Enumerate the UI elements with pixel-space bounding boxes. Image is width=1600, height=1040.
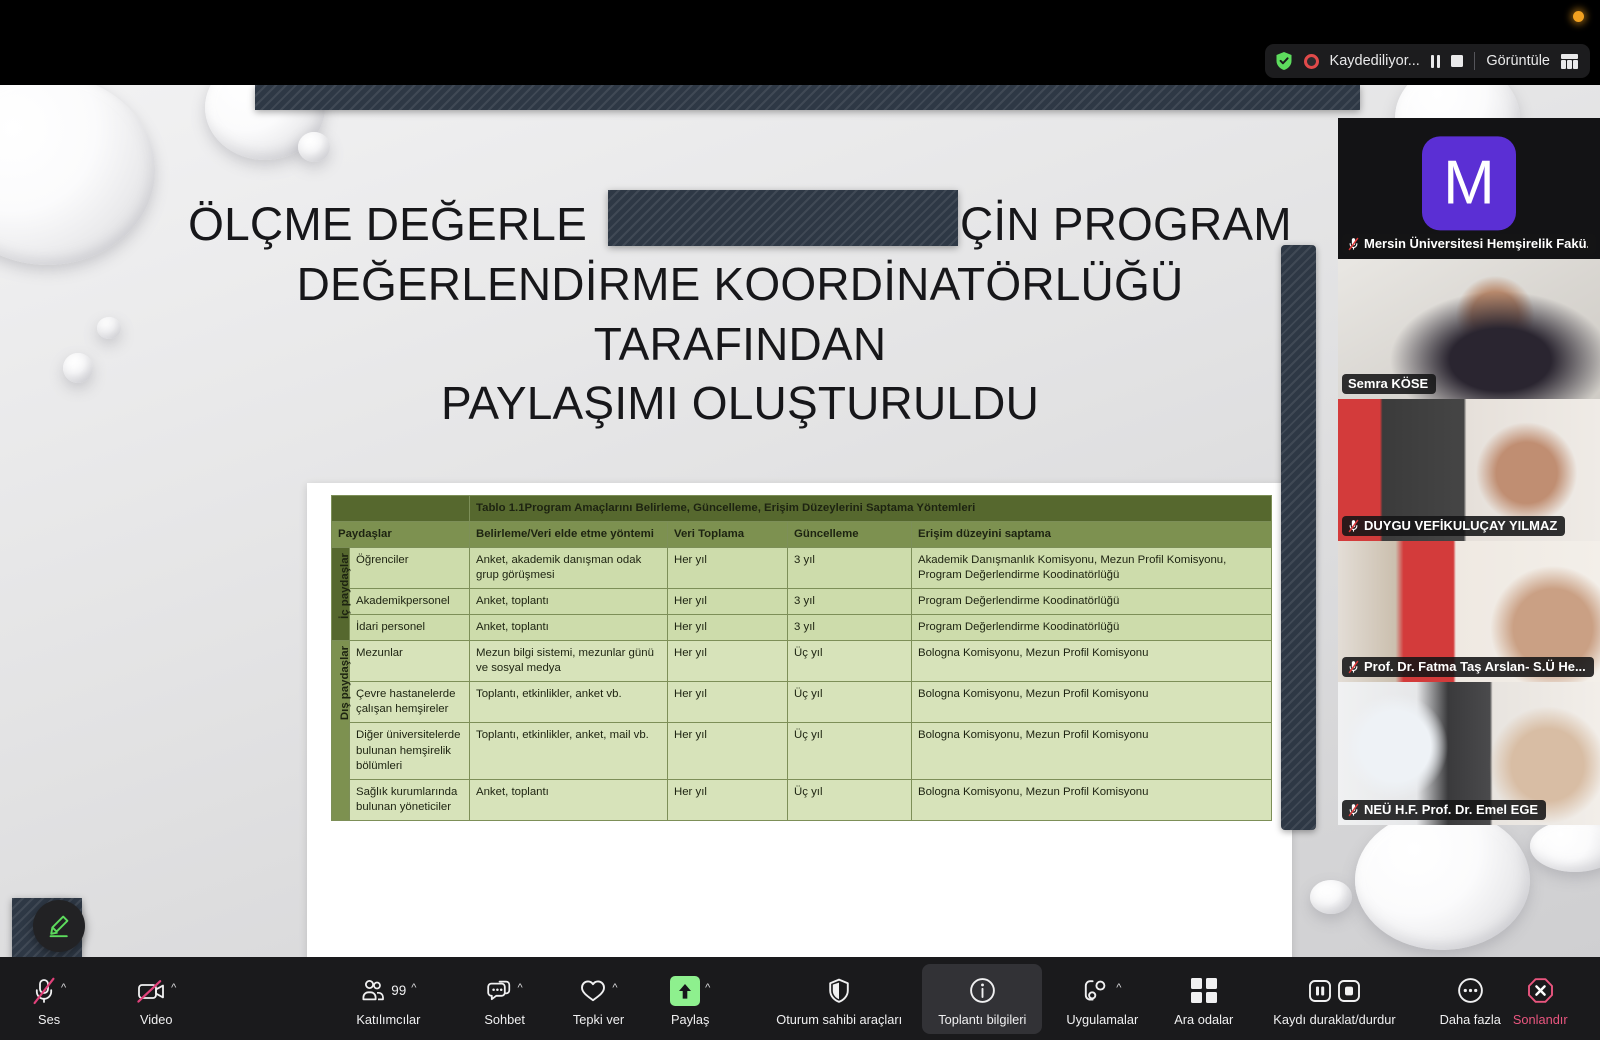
- cell-collection: Her yıl: [668, 723, 788, 779]
- pause-recording-icon[interactable]: [1308, 978, 1332, 1004]
- participant-tile[interactable]: Semra KÖSE: [1338, 259, 1600, 399]
- toolbar-label: Uygulamalar: [1066, 1012, 1138, 1027]
- participant-name: Semra KÖSE: [1348, 376, 1428, 391]
- table-row: Dış paydaşlar Mezunlar Mezun bilgi siste…: [332, 641, 1272, 682]
- chevron-up-icon[interactable]: ^: [171, 983, 176, 994]
- stop-icon[interactable]: [1451, 55, 1463, 67]
- toolbar-item-chat[interactable]: ^ Sohbet: [478, 964, 531, 1034]
- toolbar-item-share[interactable]: ^ Paylaş: [664, 964, 716, 1034]
- cell-stakeholder: Öğrenciler: [350, 548, 470, 589]
- muted-microphone-icon: [1348, 519, 1359, 533]
- participant-name-badge: DUYGU VEFİKULUÇAY YILMAZ: [1342, 516, 1565, 536]
- cell-update: 3 yıl: [788, 589, 912, 615]
- muted-microphone-icon: [1348, 660, 1359, 674]
- bubble-decoration: [97, 317, 121, 339]
- toolbar-item-meeting-info[interactable]: Toplantı bilgileri: [922, 964, 1042, 1034]
- camera-muted-icon: [136, 978, 166, 1004]
- cell-stakeholder: Diğer üniversitelerde bulunan hemşirelik…: [350, 723, 470, 779]
- th-guncelleme: Güncelleme: [788, 522, 912, 548]
- meeting-toolbar: ^ Ses ^ Video: [0, 957, 1600, 1040]
- participant-count: 99: [391, 983, 406, 998]
- cell-method: Anket, toplantı: [470, 779, 668, 820]
- th-erisim: Erişim düzeyini saptama: [912, 522, 1272, 548]
- meeting-status-bar: Kaydediliyor... Görüntüle: [1265, 44, 1590, 78]
- more-ellipsis-icon: [1457, 977, 1484, 1004]
- toolbar-label: Katılımcılar: [356, 1012, 420, 1027]
- toolbar-item-recording-controls[interactable]: Kaydı duraklat/durdur: [1267, 964, 1401, 1034]
- bubble-decoration: [63, 353, 93, 383]
- participants-icon: [360, 979, 386, 1003]
- zoom-meeting-window: Kaydediliyor... Görüntüle ÖLÇME DEĞERLEİ…: [0, 0, 1600, 1040]
- toolbar-item-more[interactable]: Daha fazla: [1434, 964, 1507, 1034]
- share-screen-up-arrow-icon: [670, 976, 700, 1006]
- th-veri-toplama: Veri Toplama: [668, 522, 788, 548]
- cell-update: Üç yıl: [788, 723, 912, 779]
- cell-update: Üç yıl: [788, 641, 912, 682]
- toolbar-item-participants[interactable]: 99 ^ Katılımcılar: [350, 964, 426, 1034]
- th-belirleme: Belirleme/Veri elde etme yöntemi: [470, 522, 668, 548]
- toolbar-label: Video: [140, 1012, 173, 1027]
- cell-method: Anket, toplantı: [470, 615, 668, 641]
- apps-icon: [1083, 978, 1111, 1003]
- bubble-decoration: [0, 85, 155, 265]
- toolbar-item-audio[interactable]: ^ Ses: [26, 964, 72, 1034]
- slide-table-container: Tablo 1.1Program Amaçlarını Belirleme, G…: [307, 483, 1292, 957]
- group-label-external: Dış paydaşlar: [332, 641, 350, 820]
- cell-collection: Her yıl: [668, 779, 788, 820]
- cell-collection: Her yıl: [668, 615, 788, 641]
- chevron-up-icon[interactable]: ^: [61, 983, 66, 994]
- cell-stakeholder: Akademikpersonel: [350, 589, 470, 615]
- slide-title-line1-a: ÖLÇME DEĞERLE: [188, 198, 587, 250]
- participant-name-badge: NEÜ H.F. Prof. Dr. Emel EGE: [1342, 800, 1546, 820]
- toolbar-item-video[interactable]: ^ Video: [130, 964, 182, 1034]
- participant-video-strip: M Mersin Üniversitesi Hemşirelik Fakü...…: [1338, 118, 1600, 825]
- table-row: Akademikpersonel Anket, toplantı Her yıl…: [332, 589, 1272, 615]
- table-header-row: Paydaşlar Belirleme/Veri elde etme yönte…: [332, 522, 1272, 548]
- bubble-decoration: [1355, 810, 1530, 950]
- participant-name: DUYGU VEFİKULUÇAY YILMAZ: [1364, 518, 1557, 533]
- cell-method: Mezun bilgi sistemi, mezunlar günü ve so…: [470, 641, 668, 682]
- chevron-up-icon[interactable]: ^: [705, 983, 710, 994]
- heart-icon: [579, 978, 607, 1003]
- toolbar-item-reactions[interactable]: ^ Tepki ver: [567, 964, 630, 1034]
- slide-title-line2: DEĞERLENDİRME KOORDİNATÖRLÜĞÜ TARAFINDAN: [150, 255, 1330, 375]
- view-label[interactable]: Görüntüle: [1486, 53, 1550, 69]
- table-caption: Tablo 1.1Program Amaçlarını Belirleme, G…: [470, 496, 1272, 522]
- participant-name-badge: Mersin Üniversitesi Hemşirelik Fakü...: [1342, 234, 1596, 254]
- cell-stakeholder: İdari personel: [350, 615, 470, 641]
- toolbar-item-host-tools[interactable]: Oturum sahibi araçları: [770, 964, 908, 1034]
- cell-collection: Her yıl: [668, 548, 788, 589]
- pause-icon[interactable]: [1431, 55, 1441, 68]
- table-row: Çevre hastanelerde çalışan hemşireler To…: [332, 682, 1272, 723]
- toolbar-label: Tepki ver: [573, 1012, 624, 1027]
- toolbar-label: Ara odalar: [1174, 1012, 1233, 1027]
- cell-method: Anket, akademik danışman odak grup görüş…: [470, 548, 668, 589]
- cell-update: Üç yıl: [788, 779, 912, 820]
- recording-label: Kaydediliyor...: [1330, 53, 1420, 69]
- pause-stop-recording-icon: [1308, 975, 1361, 1007]
- participant-tile[interactable]: Prof. Dr. Fatma Taş Arslan- S.Ü He...: [1338, 541, 1600, 682]
- cell-access: Bologna Komisyonu, Mezun Profil Komisyon…: [912, 682, 1272, 723]
- layout-grid-icon[interactable]: [1561, 54, 1578, 69]
- cell-access: Bologna Komisyonu, Mezun Profil Komisyon…: [912, 641, 1272, 682]
- table-row: İç paydaşlar Öğrenciler Anket, akademik …: [332, 548, 1272, 589]
- toolbar-label: Kaydı duraklat/durdur: [1273, 1012, 1395, 1027]
- cell-access: Program Değerlendirme Koodinatörlüğü: [912, 615, 1272, 641]
- host-tools-shield-icon: [828, 978, 850, 1004]
- chat-bubble-icon: [487, 979, 513, 1003]
- toolbar-item-apps[interactable]: ^ Uygulamalar: [1060, 964, 1144, 1034]
- chevron-up-icon[interactable]: ^: [411, 983, 416, 994]
- cell-method: Toplantı, etkinlikler, anket, mail vb.: [470, 723, 668, 779]
- breakout-rooms-grid-icon: [1191, 978, 1217, 1004]
- participant-name: NEÜ H.F. Prof. Dr. Emel EGE: [1364, 802, 1538, 817]
- participant-name: Prof. Dr. Fatma Taş Arslan- S.Ü He...: [1364, 659, 1586, 674]
- chevron-up-icon[interactable]: ^: [518, 983, 523, 994]
- cell-collection: Her yıl: [668, 641, 788, 682]
- participant-tile[interactable]: DUYGU VEFİKULUÇAY YILMAZ: [1338, 399, 1600, 541]
- th-paydaslar: Paydaşlar: [332, 522, 470, 548]
- microphone-muted-icon: [32, 977, 56, 1005]
- redaction-overlay-title: [608, 190, 958, 246]
- cell-access: Bologna Komisyonu, Mezun Profil Komisyon…: [912, 723, 1272, 779]
- cell-method: Anket, toplantı: [470, 589, 668, 615]
- toolbar-label: Toplantı bilgileri: [938, 1012, 1026, 1027]
- info-circle-icon: [969, 977, 996, 1004]
- cell-access: Bologna Komisyonu, Mezun Profil Komisyon…: [912, 779, 1272, 820]
- participant-name: Mersin Üniversitesi Hemşirelik Fakü...: [1364, 236, 1588, 251]
- screen-recording-indicator: [1573, 11, 1584, 22]
- bubble-decoration: [298, 132, 330, 162]
- redaction-overlay-top: [255, 85, 1360, 110]
- cell-access: Akademik Danışmanlık Komisyonu, Mezun Pr…: [912, 548, 1272, 589]
- avatar: M: [1422, 136, 1516, 230]
- cell-stakeholder: Mezunlar: [350, 641, 470, 682]
- toolbar-label: Daha fazla: [1440, 1012, 1501, 1027]
- toolbar-label: Ses: [38, 1012, 60, 1027]
- top-bar: [0, 0, 1600, 38]
- chevron-up-icon[interactable]: ^: [1116, 983, 1121, 994]
- toolbar-item-end-meeting[interactable]: Sonlandır: [1507, 964, 1574, 1034]
- group-label-internal: İç paydaşlar: [332, 548, 350, 641]
- participant-tile[interactable]: M Mersin Üniversitesi Hemşirelik Fakü...: [1338, 118, 1600, 259]
- end-meeting-x-icon: [1527, 977, 1554, 1004]
- table-row: Sağlık kurumlarında bulunan yöneticiler …: [332, 779, 1272, 820]
- cell-method: Toplantı, etkinlikler, anket vb.: [470, 682, 668, 723]
- redaction-overlay-right: [1281, 245, 1316, 830]
- annotate-button[interactable]: [33, 900, 85, 952]
- cell-access: Program Değerlendirme Koodinatörlüğü: [912, 589, 1272, 615]
- toolbar-label: Paylaş: [671, 1012, 709, 1027]
- toolbar-label: Oturum sahibi araçları: [776, 1012, 902, 1027]
- table-row: Diğer üniversitelerde bulunan hemşirelik…: [332, 723, 1272, 779]
- cell-stakeholder: Çevre hastanelerde çalışan hemşireler: [350, 682, 470, 723]
- participant-name-badge: Prof. Dr. Fatma Taş Arslan- S.Ü He...: [1342, 657, 1594, 677]
- cell-update: 3 yıl: [788, 615, 912, 641]
- stop-recording-icon[interactable]: [1337, 978, 1361, 1004]
- slide-title-line1-b: İÇİN PROGRAM: [947, 198, 1292, 250]
- pencil-icon: [46, 913, 72, 939]
- cell-collection: Her yıl: [668, 589, 788, 615]
- participant-tile[interactable]: NEÜ H.F. Prof. Dr. Emel EGE: [1338, 682, 1600, 825]
- participant-name-badge: Semra KÖSE: [1342, 374, 1436, 394]
- muted-microphone-icon: [1348, 237, 1359, 251]
- slide-title-line3: PAYLAŞIMI OLUŞTURULDU: [150, 374, 1330, 434]
- cell-collection: Her yıl: [668, 682, 788, 723]
- toolbar-label: Sohbet: [484, 1012, 525, 1027]
- cell-stakeholder: Sağlık kurumlarında bulunan yöneticiler: [350, 779, 470, 820]
- cell-update: Üç yıl: [788, 682, 912, 723]
- muted-microphone-icon: [1348, 803, 1359, 817]
- table-caption-row: Tablo 1.1Program Amaçlarını Belirleme, G…: [332, 496, 1272, 522]
- bubble-decoration: [1530, 820, 1600, 872]
- program-goals-table: Tablo 1.1Program Amaçlarını Belirleme, G…: [331, 495, 1272, 821]
- table-caption-spacer: [332, 496, 470, 522]
- table-row: İdari personel Anket, toplantı Her yıl 3…: [332, 615, 1272, 641]
- bubble-decoration: [1310, 880, 1352, 914]
- shield-check-icon[interactable]: [1275, 51, 1293, 71]
- recording-dot-icon: [1304, 54, 1319, 69]
- toolbar-label: Sonlandır: [1513, 1012, 1568, 1027]
- toolbar-divider: [1474, 52, 1475, 70]
- cell-update: 3 yıl: [788, 548, 912, 589]
- toolbar-item-breakout-rooms[interactable]: Ara odalar: [1168, 964, 1239, 1034]
- chevron-up-icon[interactable]: ^: [612, 983, 617, 994]
